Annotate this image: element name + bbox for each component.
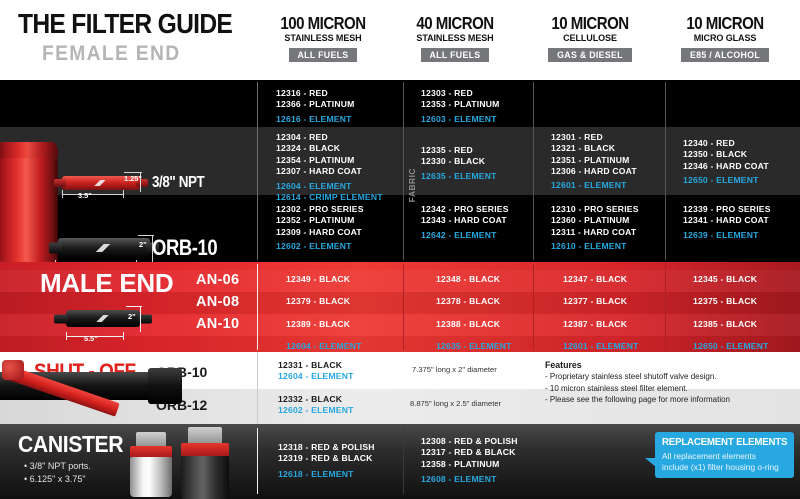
female-end-section: 3.5" 1.25" 5.5" 2" 7" 2.5" 3/8" NPT <box>0 80 800 262</box>
column-divider <box>533 264 534 350</box>
column-divider <box>533 82 534 260</box>
column-header-10-micron-micro-glass: 10 MICRON MICRO GLASS E85 / ALCOHOL <box>660 14 790 63</box>
feature-item: - Please see the following page for more… <box>545 394 730 406</box>
cell-male-40micron: 12348 - BLACK 12378 - BLACK 12388 - BLAC… <box>436 274 512 352</box>
dim-tick <box>124 172 142 173</box>
male-end-section: MALE END 5.5" 2" AN-06 AN-08 AN-10 12349… <box>0 262 800 352</box>
cell-orb10-100micron: 12304 - RED 12324 - BLACK 12354 - PLATIN… <box>276 132 383 204</box>
column-micron-label: 10 MICRON <box>669 14 781 32</box>
filter-guide-sheet: THE FILTER GUIDE FEMALE END 100 MICRON S… <box>0 0 800 499</box>
column-fuel-badge: GAS & DIESEL <box>548 48 632 62</box>
row-label-orb10: ORB-10 <box>152 235 217 261</box>
callout-line: include (x1) filter housing o-ring <box>662 462 779 473</box>
dim-text-shutoff-orb12: 8.875" long x 2.5" diameter <box>410 399 501 408</box>
row-label-an10: AN-10 <box>196 316 239 332</box>
product-photo-shutoff-outlet <box>148 368 182 404</box>
dim-tick <box>123 332 124 340</box>
cell-shutoff-orb10-parts: 12331 - BLACK 12604 - ELEMENT <box>278 360 354 383</box>
dim-label-npt-diameter: 1.25" <box>124 174 142 183</box>
cell-orb12-40micron: 12342 - PRO SERIES 12343 - HARD COAT 126… <box>421 204 509 241</box>
cell-canister-10micron-cellulose: 12308 - RED & POLISH 12317 - RED & BLACK… <box>421 436 518 485</box>
cell-canister-100micron: 12318 - RED & POLISH 12319 - RED & BLACK… <box>278 442 375 480</box>
cell-orb10-10micron-microglass: 12340 - RED 12350 - BLACK 12346 - HARD C… <box>683 138 769 186</box>
cell-orb12-10micron-microglass: 12339 - PRO SERIES 12341 - HARD COAT 126… <box>683 204 771 241</box>
row-label-an06: AN-06 <box>196 272 239 288</box>
fabric-label: FABRIC <box>407 168 417 202</box>
dim-tick <box>62 190 63 198</box>
column-material-label: STAINLESS MESH <box>394 33 516 44</box>
section-subtitle-female-end: FEMALE END <box>42 42 180 66</box>
column-header-40-micron: 40 MICRON STAINLESS MESH ALL FUELS <box>390 14 520 63</box>
feature-item: - 10 micron stainless steel filter eleme… <box>545 383 730 395</box>
cell-shutoff-orb12-parts: 12332 - BLACK 12602 - ELEMENT <box>278 394 354 417</box>
product-photo-shutoff-knob <box>2 360 24 380</box>
row-label-an08: AN-08 <box>196 294 239 310</box>
dim-label-male-diameter: 2" <box>128 312 136 321</box>
section-title-canister: CANISTER <box>18 431 123 458</box>
dim-tick <box>66 332 67 340</box>
replacement-elements-callout: REPLACEMENT ELEMENTS All replacement ele… <box>655 432 794 478</box>
column-header-100-micron: 100 MICRON STAINLESS MESH ALL FUELS <box>258 14 388 63</box>
dim-label-npt-length: 3.5" <box>78 191 92 200</box>
column-divider <box>665 82 666 260</box>
product-photo-orb10-filter <box>58 238 150 258</box>
cell-npt-100micron: 12316 - RED 12366 - PLATINUM 12616 - ELE… <box>276 88 355 125</box>
dim-label-orb10-diameter: 2" <box>139 240 147 249</box>
cell-male-10micron-cellulose: 12347 - BLACK 12377 - BLACK 12387 - BLAC… <box>563 274 639 352</box>
cell-male-10micron-microglass: 12345 - BLACK 12375 - BLACK 12385 - BLAC… <box>693 274 769 352</box>
feature-item: - Proprietary stainless steel shutoff va… <box>545 371 730 383</box>
callout-title: REPLACEMENT ELEMENTS <box>662 437 787 448</box>
column-divider <box>257 352 258 424</box>
column-fuel-badge: ALL FUELS <box>289 48 358 62</box>
cell-male-100micron: 12349 - BLACK 12379 - BLACK 12389 - BLAC… <box>286 274 362 352</box>
column-fuel-badge: E85 / ALCOHOL <box>681 48 769 62</box>
dim-label-male-length: 5.5" <box>84 334 98 343</box>
dim-line-npt-length <box>62 194 124 195</box>
callout-line: All replacement elements <box>662 451 779 462</box>
canister-spec-item: • 3/8" NPT ports. <box>24 460 91 473</box>
page-title: THE FILTER GUIDE <box>18 8 232 40</box>
cell-npt-40micron: 12303 - RED 12353 - PLATINUM 12603 - ELE… <box>421 88 500 125</box>
row-label-npt: 3/8" NPT <box>152 174 204 192</box>
table-row-npt <box>0 80 800 127</box>
canister-spec-item: • 6.125" x 3.75" <box>24 473 91 486</box>
cell-orb10-10micron-cellulose: 12301 - RED 12321 - BLACK 12351 - PLATIN… <box>551 132 637 191</box>
column-divider <box>403 264 404 350</box>
canister-specs: • 3/8" NPT ports. • 6.125" x 3.75" <box>24 460 91 486</box>
features-title: Features <box>545 360 730 370</box>
column-header-10-micron-cellulose: 10 MICRON CELLULOSE GAS & DIESEL <box>525 14 655 63</box>
cell-orb10-40micron: 12335 - RED 12330 - BLACK 12635 - ELEMEN… <box>421 145 497 182</box>
column-divider <box>403 82 404 260</box>
column-material-label: STAINLESS MESH <box>262 33 384 44</box>
header: THE FILTER GUIDE FEMALE END 100 MICRON S… <box>0 0 800 80</box>
column-material-label: MICRO GLASS <box>664 33 786 44</box>
section-title-male-end: MALE END <box>40 268 173 299</box>
callout-body: All replacement elements include (x1) fi… <box>662 451 779 473</box>
dim-tick <box>140 306 141 332</box>
column-fuel-badge: ALL FUELS <box>421 48 490 62</box>
column-divider <box>257 82 258 260</box>
column-material-label: CELLULOSE <box>529 33 651 44</box>
dim-tick <box>123 190 124 198</box>
column-micron-label: 10 MICRON <box>534 14 646 32</box>
column-divider <box>403 428 404 494</box>
dim-text-shutoff-orb10: 7.375" long x 2" diameter <box>412 365 497 374</box>
column-micron-label: 100 MICRON <box>267 14 379 32</box>
cell-orb12-100micron: 12302 - PRO SERIES 12352 - PLATINUM 1230… <box>276 204 364 252</box>
column-divider <box>257 428 258 494</box>
column-divider <box>257 264 258 350</box>
cell-orb12-10micron-cellulose: 12310 - PRO SERIES 12360 - PLATINUM 1231… <box>551 204 639 252</box>
features-block: Features - Proprietary stainless steel s… <box>545 360 730 406</box>
column-micron-label: 40 MICRON <box>399 14 511 32</box>
column-divider <box>665 264 666 350</box>
dim-tick <box>126 306 142 307</box>
